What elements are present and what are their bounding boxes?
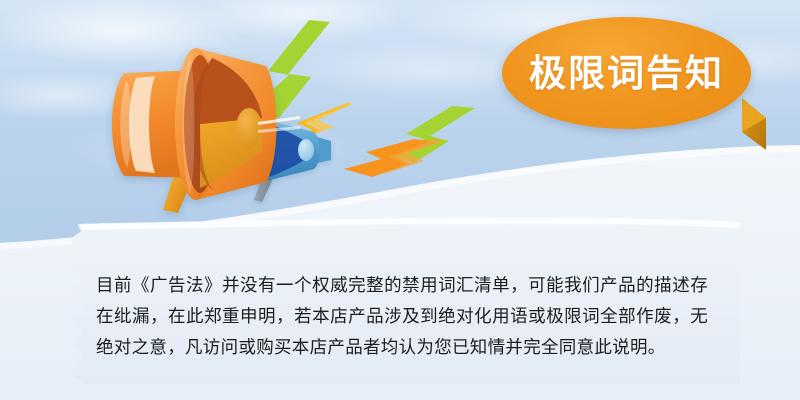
orange-bolt-icon — [344, 139, 443, 177]
notice-card: 目前《广告法》并没有一个权威完整的禁用词汇清单，可能我们产品的描述存在纰漏，在此… — [58, 213, 742, 389]
badge-extreme-word-notice[interactable]: 极限词告知 — [502, 17, 751, 129]
extreme-word-notice-banner: 极限词告知 目前《广告法》并没有一个权威完整的禁用词汇清单，可能我们产品的描述存… — [0, 0, 800, 400]
badge-ribbon-fold — [742, 98, 766, 150]
orange-megaphone-icon — [108, 48, 300, 213]
badge-label: 极限词告知 — [529, 55, 724, 92]
notice-body-text: 目前《广告法》并没有一个权威完整的禁用词汇清单，可能我们产品的描述存在纰漏，在此… — [96, 271, 708, 364]
